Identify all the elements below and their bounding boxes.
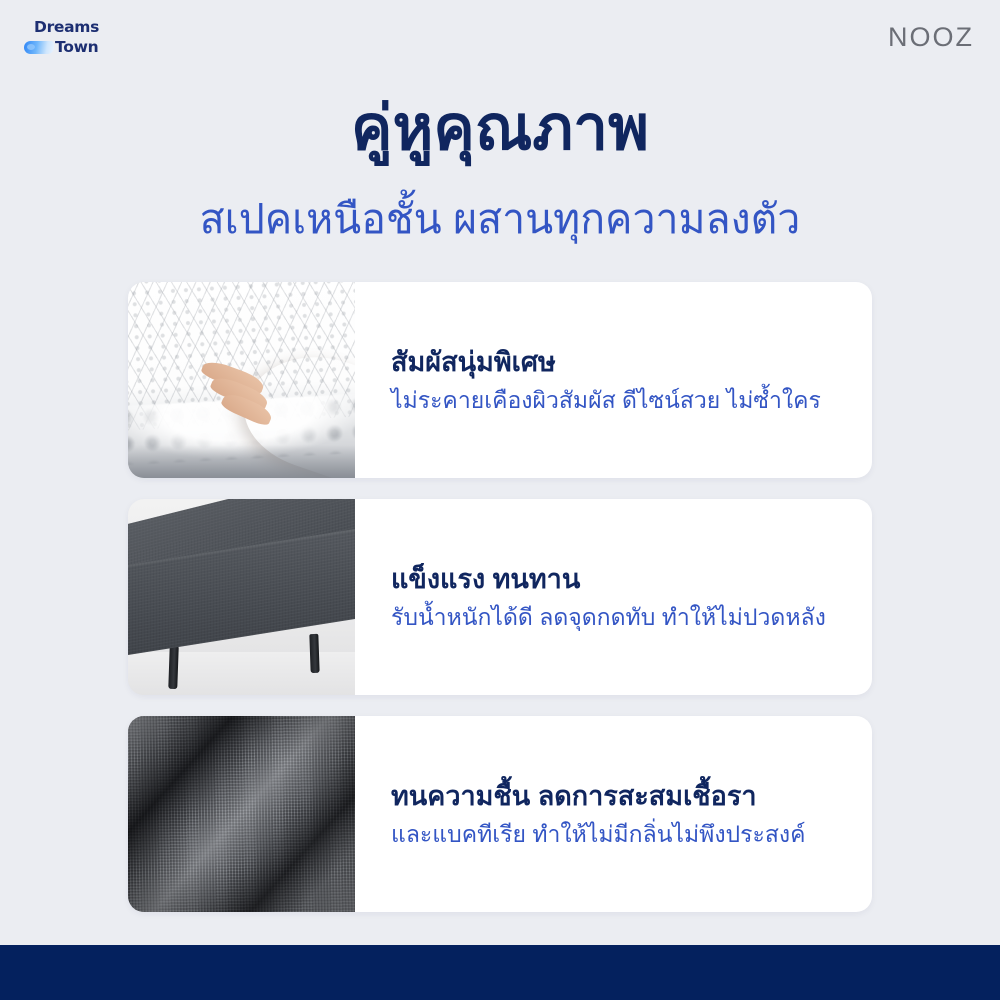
- feature-description: ไม่ระคายเคืองผิวสัมผัส ดีไซน์สวย ไม่ซ้ำใ…: [391, 384, 842, 416]
- mattress-photo-illustration: [128, 282, 355, 478]
- feature-text: แข็งแรง ทนทาน รับน้ำหนักได้ดี ลดจุดกดทับ…: [355, 499, 872, 695]
- fabric-photo-illustration: [128, 716, 355, 912]
- photo-vignette: [128, 716, 355, 912]
- bed-leg: [309, 634, 319, 673]
- feature-card: แข็งแรง ทนทาน รับน้ำหนักได้ดี ลดจุดกดทับ…: [128, 499, 872, 695]
- bed-base-photo-illustration: [128, 499, 355, 695]
- swoosh-icon: [24, 41, 54, 54]
- feature-description: และแบคทีเรีย ทำให้ไม่มีกลิ่นไม่พึงประสงค…: [391, 818, 842, 850]
- brand-name-line2: Town: [55, 38, 98, 56]
- dreams-town-logo[interactable]: Dreams Town: [22, 18, 152, 64]
- feature-card: สัมผัสนุ่มพิเศษ ไม่ระคายเคืองผิวสัมผัส ด…: [128, 282, 872, 478]
- brand-name-line1: Dreams: [34, 18, 99, 36]
- feature-card-list: สัมผัสนุ่มพิเศษ ไม่ระคายเคืองผิวสัมผัส ด…: [128, 282, 872, 933]
- page-subtitle: สเปคเหนือชั้น ผสานทุกความลงตัว: [0, 196, 1000, 243]
- feature-text: สัมผัสนุ่มพิเศษ ไม่ระคายเคืองผิวสัมผัส ด…: [355, 282, 872, 478]
- base-shadow: [128, 445, 355, 478]
- nooz-logo: NOOZ: [888, 22, 974, 53]
- feature-card: ทนความชื้น ลดการสะสมเชื้อรา และแบคทีเรีย…: [128, 716, 872, 912]
- footer-bar: [0, 945, 1000, 1000]
- page-title: คู่หูคุณภาพ: [0, 96, 1000, 161]
- bed-leg: [168, 646, 178, 689]
- feature-title: สัมผัสนุ่มพิเศษ: [391, 344, 842, 380]
- poster-page: Dreams Town NOOZ คู่หูคุณภาพ สเปคเหนือชั…: [0, 0, 1000, 1000]
- feature-description: รับน้ำหนักได้ดี ลดจุดกดทับ ทำให้ไม่ปวดหล…: [391, 601, 842, 633]
- feature-image-bed-base: [128, 499, 355, 695]
- feature-title: ทนความชื้น ลดการสะสมเชื้อรา: [391, 778, 842, 814]
- feature-text: ทนความชื้น ลดการสะสมเชื้อรา และแบคทีเรีย…: [355, 716, 872, 912]
- feature-image-fabric: [128, 716, 355, 912]
- floor-surface: [128, 652, 355, 695]
- feature-title: แข็งแรง ทนทาน: [391, 561, 842, 597]
- feature-image-mattress: [128, 282, 355, 478]
